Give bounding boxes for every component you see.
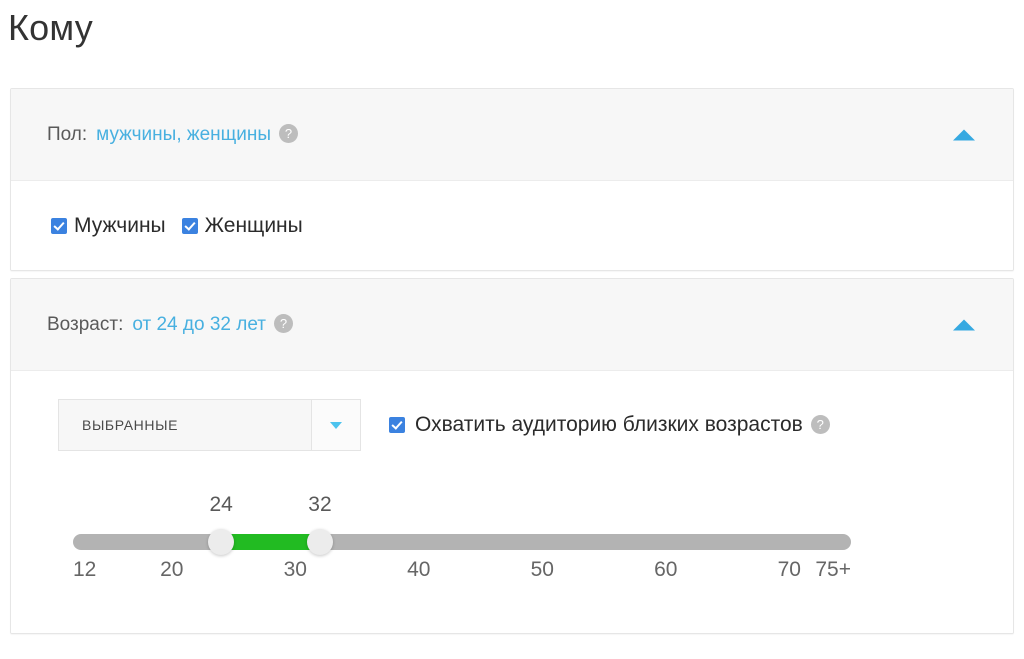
gender-card-body: Мужчины Женщины [11, 181, 1013, 270]
age-range-slider[interactable]: 24 32 1220304050607075+ [11, 489, 1013, 589]
age-mode-select[interactable]: ВЫБРАННЫЕ [58, 399, 361, 451]
gender-label: Пол: [47, 124, 87, 146]
gender-option-female[interactable]: Женщины [182, 214, 303, 238]
checkbox-checked-icon[interactable] [182, 218, 198, 234]
slider-handle-from[interactable] [208, 529, 234, 555]
gender-options: Мужчины Женщины [51, 214, 303, 238]
slider-tick-label: 70 [778, 558, 801, 582]
age-mode-select-arrow-box[interactable] [311, 400, 360, 450]
slider-value-to: 32 [308, 493, 331, 517]
gender-value[interactable]: мужчины, женщины [96, 124, 271, 146]
slider-tick-label: 60 [654, 558, 677, 582]
triangle-up-icon[interactable] [953, 319, 975, 330]
slider-tick-label: 30 [284, 558, 307, 582]
slider-track[interactable] [73, 534, 851, 550]
gender-option-male-label: Мужчины [74, 214, 166, 238]
gender-option-male[interactable]: Мужчины [51, 214, 166, 238]
age-controls-row: ВЫБРАННЫЕ Охватить аудиторию близких воз… [11, 397, 1013, 453]
age-mode-select-value: ВЫБРАННЫЕ [59, 400, 311, 450]
age-value[interactable]: от 24 до 32 лет [132, 314, 266, 336]
slider-track-area[interactable]: 24 32 1220304050607075+ [73, 534, 851, 550]
caret-down-icon [330, 422, 342, 429]
gender-card-header[interactable]: Пол: мужчины, женщины ? [11, 89, 1013, 181]
near-ages-label: Охватить аудиторию близких возрастов [415, 413, 803, 437]
triangle-up-icon[interactable] [953, 129, 975, 140]
slider-selected-range [221, 534, 320, 550]
age-card: Возраст: от 24 до 32 лет ? ВЫБРАННЫЕ Охв… [10, 278, 1014, 634]
help-circle-icon[interactable]: ? [279, 124, 298, 143]
slider-tick-label: 20 [160, 558, 183, 582]
slider-tick-label: 50 [531, 558, 554, 582]
slider-tick-label: 75+ [815, 558, 851, 582]
help-circle-icon[interactable]: ? [274, 314, 293, 333]
near-ages-option[interactable]: Охватить аудиторию близких возрастов ? [389, 413, 830, 437]
gender-card: Пол: мужчины, женщины ? Мужчины Женщины [10, 88, 1014, 271]
slider-handle-to[interactable] [307, 529, 333, 555]
page-title: Кому [8, 6, 93, 50]
checkbox-checked-icon[interactable] [389, 417, 405, 433]
gender-option-female-label: Женщины [205, 214, 303, 238]
slider-value-from: 24 [210, 493, 233, 517]
age-card-header[interactable]: Возраст: от 24 до 32 лет ? [11, 279, 1013, 371]
slider-tick-label: 12 [73, 558, 96, 582]
age-card-body: ВЫБРАННЫЕ Охватить аудиторию близких воз… [11, 371, 1013, 633]
slider-tick-label: 40 [407, 558, 430, 582]
checkbox-checked-icon[interactable] [51, 218, 67, 234]
settings-cards: Пол: мужчины, женщины ? Мужчины Женщины … [10, 88, 1014, 641]
help-circle-icon[interactable]: ? [811, 415, 830, 434]
age-label: Возраст: [47, 314, 123, 336]
